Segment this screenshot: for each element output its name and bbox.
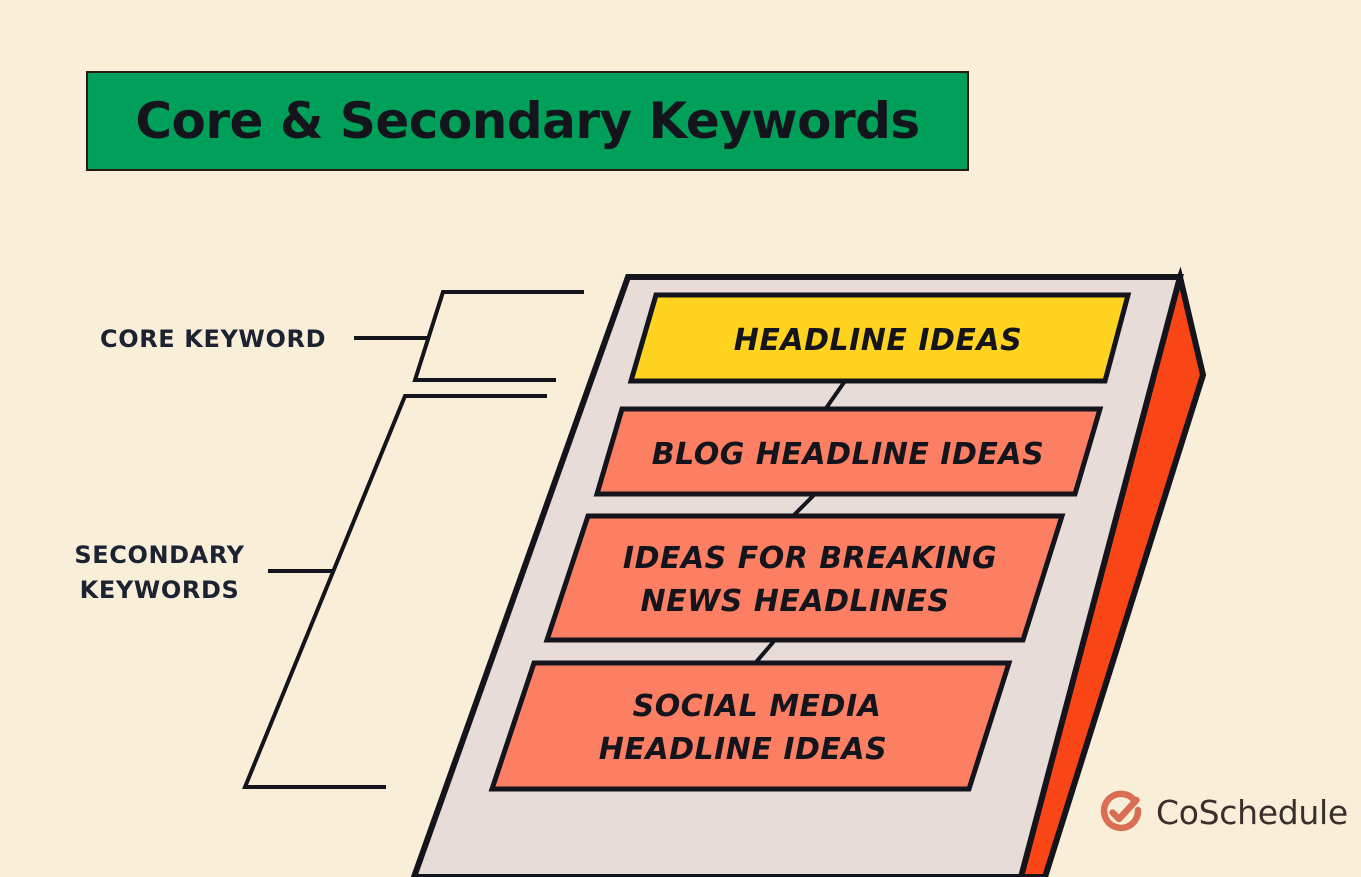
box-secondary-1[interactable]: BLOG HEADLINE IDEAS: [597, 409, 1100, 494]
box-secondary-3-shape: [492, 663, 1009, 789]
box-core-label: HEADLINE IDEAS: [734, 323, 1022, 358]
box-secondary-3[interactable]: SOCIAL MEDIA HEADLINE IDEAS: [492, 663, 1009, 789]
keyword-hierarchy-diagram: HEADLINE IDEAS BLOG HEADLINE IDEAS IDEAS…: [0, 0, 1361, 877]
coschedule-logo: CoSchedule: [1098, 789, 1348, 835]
coschedule-wordmark: CoSchedule: [1156, 796, 1348, 829]
box-secondary-2-label-line2: NEWS HEADLINES: [641, 584, 950, 619]
box-core[interactable]: HEADLINE IDEAS: [631, 295, 1128, 381]
box-secondary-3-label-line2: HEADLINE IDEAS: [599, 732, 887, 767]
core-keyword-bracket: [354, 292, 584, 380]
coschedule-check-icon: [1098, 789, 1144, 835]
box-secondary-1-label: BLOG HEADLINE IDEAS: [652, 437, 1044, 472]
box-secondary-2[interactable]: IDEAS FOR BREAKING NEWS HEADLINES: [547, 516, 1062, 640]
box-secondary-2-label-line1: IDEAS FOR BREAKING: [623, 541, 997, 576]
infographic-canvas: Core & Secondary Keywords CORE KEYWORD S…: [0, 0, 1361, 877]
box-secondary-3-label-line1: SOCIAL MEDIA: [633, 689, 882, 724]
box-secondary-2-shape: [547, 516, 1062, 640]
